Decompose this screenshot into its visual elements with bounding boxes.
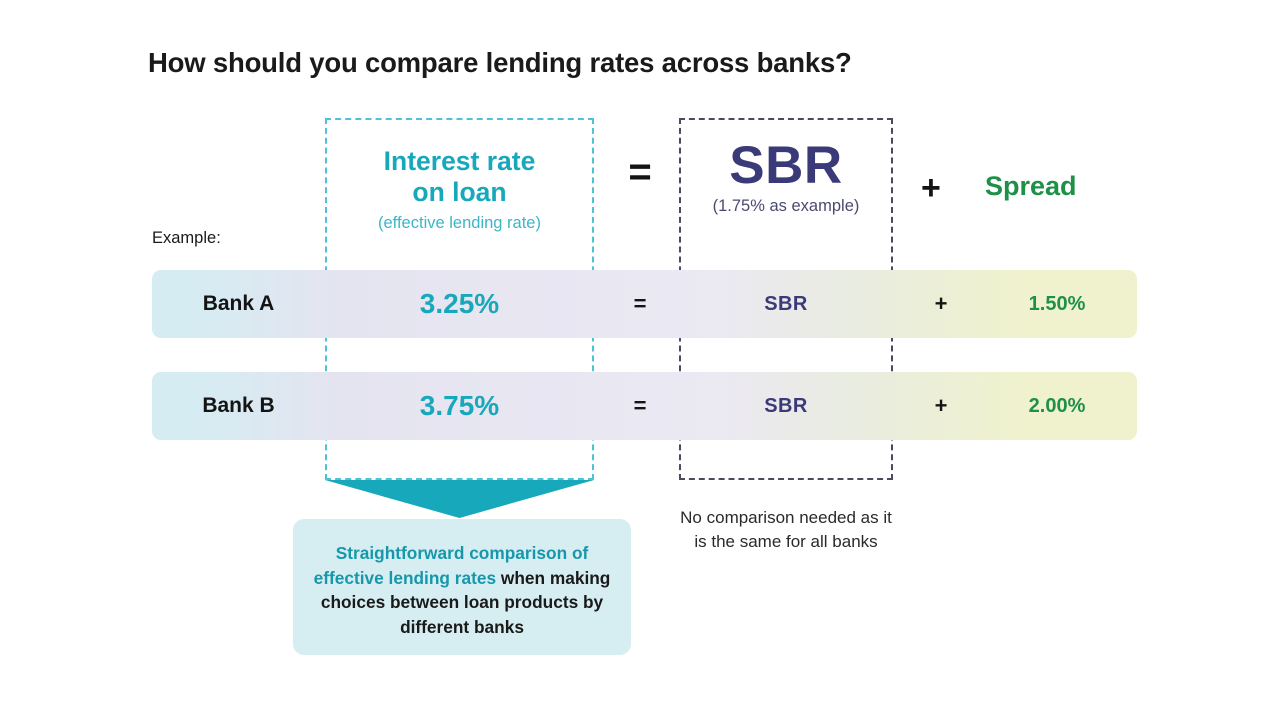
sbr-note-text: No comparison needed as it is the same f… xyxy=(679,506,893,554)
header-loan-line2: on loan xyxy=(412,177,506,207)
row-equals-symbol: = xyxy=(605,270,675,338)
row-sbr-value: SBR xyxy=(679,372,893,440)
bank-name: Bank B xyxy=(152,372,325,440)
header-sbr-label: SBR xyxy=(679,139,893,193)
row-plus-symbol: + xyxy=(921,270,961,338)
effective-lending-rate: 3.25% xyxy=(325,270,594,338)
row-plus-symbol: + xyxy=(921,372,961,440)
header-equals-symbol: = xyxy=(605,152,675,192)
row-spread-value: 2.00% xyxy=(982,372,1132,440)
header-plus-symbol: + xyxy=(921,171,941,205)
header-loan-line1: Interest rate xyxy=(384,146,536,176)
row-equals-symbol: = xyxy=(605,372,675,440)
header-interest-rate-on-loan: Interest rate on loan (effective lending… xyxy=(325,146,594,233)
down-arrow-icon xyxy=(325,480,594,518)
row-sbr-value: SBR xyxy=(679,270,893,338)
callout-box: Straightforward comparison of effective … xyxy=(293,519,631,655)
effective-lending-rate: 3.75% xyxy=(325,372,594,440)
header-loan-subtitle: (effective lending rate) xyxy=(325,214,594,233)
table-row: Bank A 3.25% = SBR + 1.50% xyxy=(152,270,1137,338)
page-title: How should you compare lending rates acr… xyxy=(148,47,852,79)
header-sbr: SBR (1.75% as example) xyxy=(679,139,893,216)
bank-name: Bank A xyxy=(152,270,325,338)
row-spread-value: 1.50% xyxy=(982,270,1132,338)
header-sbr-subtitle: (1.75% as example) xyxy=(679,197,893,216)
header-spread-label: Spread xyxy=(985,173,1077,200)
example-label: Example: xyxy=(152,229,221,248)
table-row: Bank B 3.75% = SBR + 2.00% xyxy=(152,372,1137,440)
infographic-canvas: How should you compare lending rates acr… xyxy=(0,0,1280,720)
